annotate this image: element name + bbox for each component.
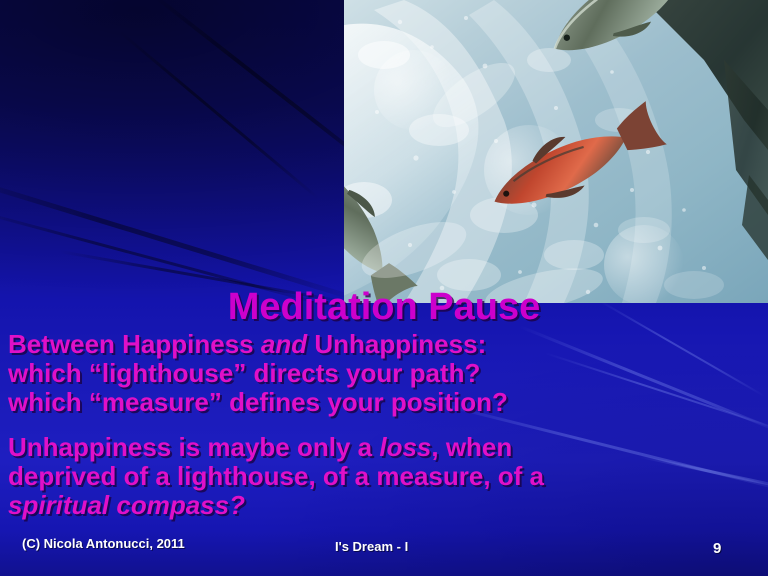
text-segment-italic: spiritual compass?: [8, 490, 245, 520]
text-segment: , when: [431, 432, 512, 462]
salmon-waterfall-image: [344, 0, 768, 303]
paragraph-2: Unhappiness is maybe only a loss, when d…: [8, 433, 760, 520]
body-line: which “lighthouse” directs your path?: [8, 359, 760, 388]
body-line: deprived of a lighthouse, of a measure, …: [8, 462, 760, 491]
slide-body: Between Happiness and Unhappiness: which…: [8, 330, 760, 520]
text-segment: which “measure” defines your position?: [8, 387, 508, 417]
text-segment: deprived of a lighthouse, of a measure, …: [8, 461, 544, 491]
slide-page-number: 9: [713, 540, 721, 557]
text-segment: Between Happiness: [8, 329, 261, 359]
text-segment-italic: loss: [379, 432, 431, 462]
paragraph-1: Between Happiness and Unhappiness: which…: [8, 330, 760, 417]
slide-title: Meditation Pause: [0, 286, 768, 329]
body-line: which “measure” defines your position?: [8, 388, 760, 417]
text-segment: Unhappiness:: [307, 329, 486, 359]
text-segment: which “lighthouse” directs your path?: [8, 358, 480, 388]
body-line: spiritual compass?: [8, 491, 760, 520]
footer-deck-title: I's Dream - I: [335, 539, 408, 554]
text-segment-italic: and: [261, 329, 307, 359]
footer-copyright: (C) Nicola Antonucci, 2011: [22, 536, 185, 551]
text-segment: Unhappiness is maybe only a: [8, 432, 379, 462]
presentation-slide: Meditation Pause Between Happiness and U…: [0, 0, 768, 576]
body-line: Between Happiness and Unhappiness:: [8, 330, 760, 359]
body-line: Unhappiness is maybe only a loss, when: [8, 433, 760, 462]
